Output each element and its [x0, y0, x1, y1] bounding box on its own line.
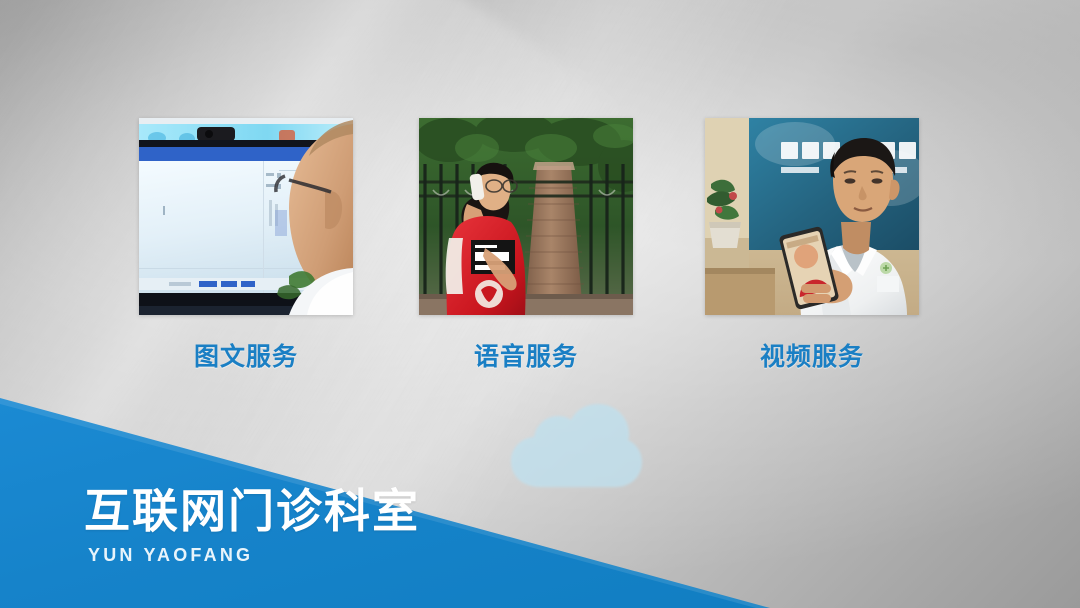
service-card-video[interactable]: 视频服务	[705, 118, 919, 373]
service-card-label: 图文服务	[139, 337, 353, 373]
woman-on-phone-photo	[419, 118, 633, 315]
doctor-at-monitor-photo	[139, 118, 353, 315]
brand-block: 互联网门诊科室 YUN YAOFANG	[84, 487, 604, 566]
doctor-video-call-photo	[705, 118, 919, 315]
brand-subtitle: YUN YAOFANG	[88, 545, 604, 566]
service-card-label: 语音服务	[419, 337, 633, 373]
cloud-icon	[505, 403, 645, 489]
service-card-row: 图文服务	[0, 118, 1080, 388]
brand-title: 互联网门诊科室	[84, 487, 604, 536]
slide-root: 图文服务	[0, 0, 1080, 608]
service-card-text-image[interactable]: 图文服务	[139, 118, 353, 373]
service-card-label: 视频服务	[705, 337, 919, 373]
service-card-voice[interactable]: 语音服务	[419, 118, 633, 373]
